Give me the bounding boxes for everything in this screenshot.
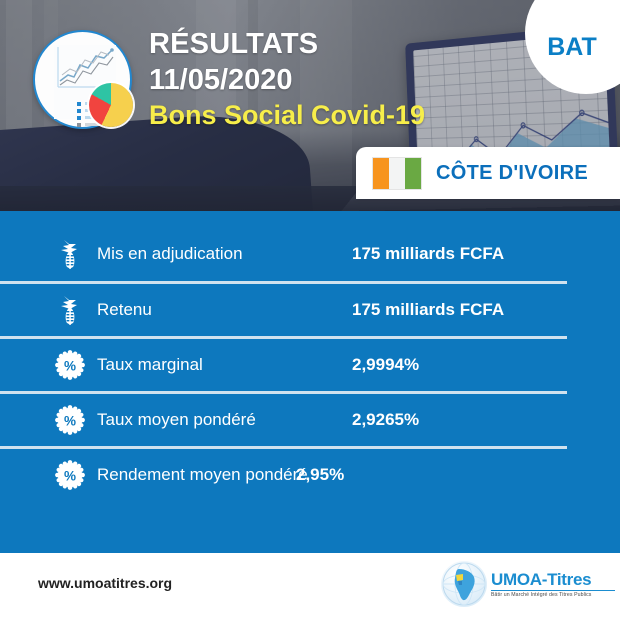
row-value: 2,95% — [296, 465, 344, 485]
product-name: Bons Social Covid-19 — [149, 98, 425, 132]
umoa-tagline: Bâtir un Marché Intégré des Titres Publi… — [491, 590, 615, 598]
percent-badge-icon: % — [53, 350, 87, 380]
row-label: Taux marginal — [97, 355, 203, 375]
row-label: Mis en adjudication — [97, 244, 243, 264]
money-bag-icon — [53, 293, 87, 327]
umoa-brand-name: UMOA-Titres — [491, 571, 615, 589]
percent-badge-icon: % — [53, 460, 87, 490]
auction-date: 11/05/2020 — [149, 62, 425, 98]
table-row: % Taux marginal 2,9994% — [0, 336, 567, 391]
results-panel: Mis en adjudication 175 milliards FCFA — [0, 211, 620, 553]
row-label: Taux moyen pondéré — [97, 410, 256, 430]
table-row: Mis en adjudication 175 milliards FCFA — [0, 226, 567, 281]
country-name: CÔTE D'IVOIRE — [436, 162, 588, 185]
row-value: 175 milliards FCFA — [352, 300, 504, 320]
money-bag-icon — [53, 237, 87, 271]
table-row: % Rendement moyen pondéré 2,95% — [0, 446, 567, 501]
row-value: 2,9265% — [352, 410, 419, 430]
table-row: Retenu 175 milliards FCFA — [0, 281, 567, 336]
page-title: RÉSULTATS — [149, 27, 425, 62]
svg-text:%: % — [64, 468, 76, 483]
table-row: % Taux moyen pondéré 2,9265% — [0, 391, 567, 446]
instrument-badge-label: BAT — [547, 33, 597, 62]
svg-text:%: % — [64, 413, 76, 428]
poster-header: RÉSULTATS 11/05/2020 Bons Social Covid-1… — [0, 0, 620, 211]
report-chart-badge-icon — [33, 30, 132, 129]
results-list: Mis en adjudication 175 milliards FCFA — [0, 226, 620, 501]
header-titles: RÉSULTATS 11/05/2020 Bons Social Covid-1… — [149, 27, 425, 132]
umoa-titres-globe-icon — [441, 561, 487, 607]
umoa-titres-logo: UMOA-Titres Bâtir un Marché Intégré des … — [441, 561, 615, 607]
cote-divoire-flag-icon — [372, 157, 422, 190]
row-value: 2,9994% — [352, 355, 419, 375]
results-poster: RÉSULTATS 11/05/2020 Bons Social Covid-1… — [0, 0, 620, 620]
percent-badge-icon: % — [53, 405, 87, 435]
row-value: 175 milliards FCFA — [352, 244, 504, 264]
pie-chart-icon — [89, 83, 133, 127]
website-link[interactable]: www.umoatitres.org — [38, 575, 172, 591]
svg-text:%: % — [64, 358, 76, 373]
row-label: Retenu — [97, 300, 152, 320]
country-panel: CÔTE D'IVOIRE — [356, 147, 620, 199]
row-label: Rendement moyen pondéré — [97, 465, 308, 485]
